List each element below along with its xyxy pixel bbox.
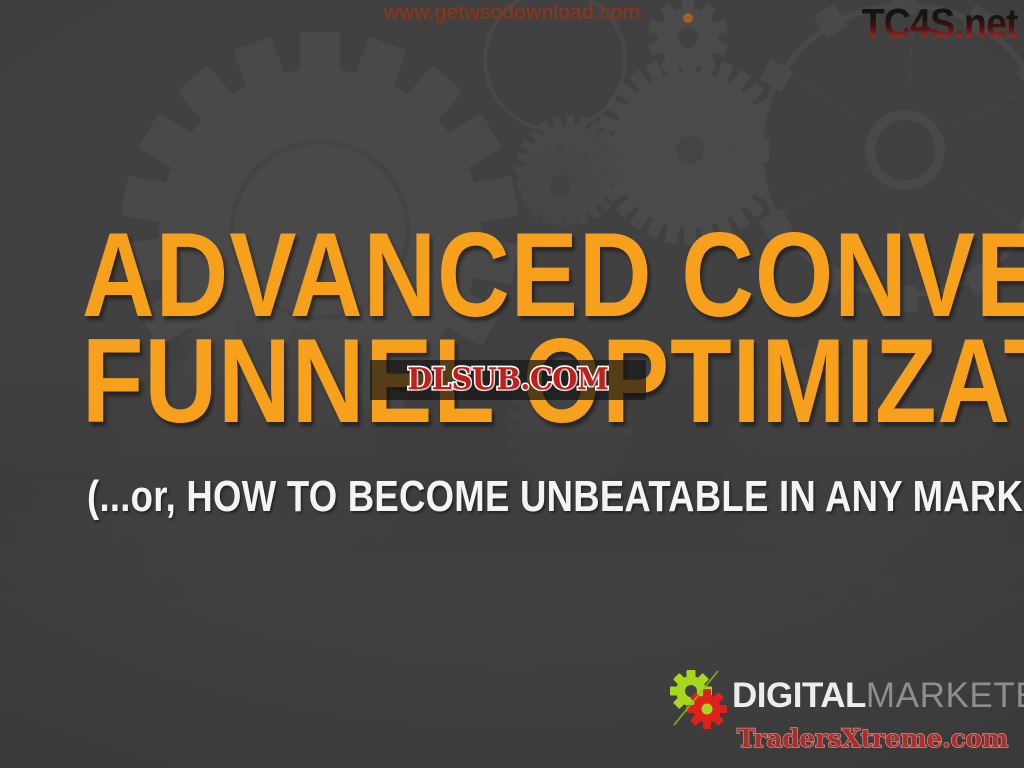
- headline-block: ADVANCED CONVERSION FUNNEL OPTIMIZATION: [0, 222, 1024, 434]
- logo-digital-text: DIGITAL: [732, 676, 866, 715]
- digitalmarketer-logo: DIGITALMARKETER: [668, 668, 998, 730]
- subtitle-text: (...or, HOW TO BECOME UNBEATABLE IN ANY …: [87, 474, 937, 520]
- two-gears-icon: [668, 669, 730, 729]
- slide-canvas: www.getwsodownload.com TC4S.net ADVANCED…: [0, 0, 1024, 768]
- logo-wordmark: DIGITALMARKETER: [732, 677, 1024, 722]
- logo-marketer-text: MARKETER: [866, 676, 1024, 715]
- watermark-tradersxtreme: TradersXtreme.com: [737, 726, 1008, 752]
- title-line-1: ADVANCED CONVERSION: [82, 222, 942, 328]
- watermark-dlsub-text: DLSUB.COM: [407, 365, 608, 395]
- watermark-dlsub-badge: DLSUB.COM: [370, 360, 646, 400]
- watermark-tc4s: TC4S.net: [862, 2, 1018, 44]
